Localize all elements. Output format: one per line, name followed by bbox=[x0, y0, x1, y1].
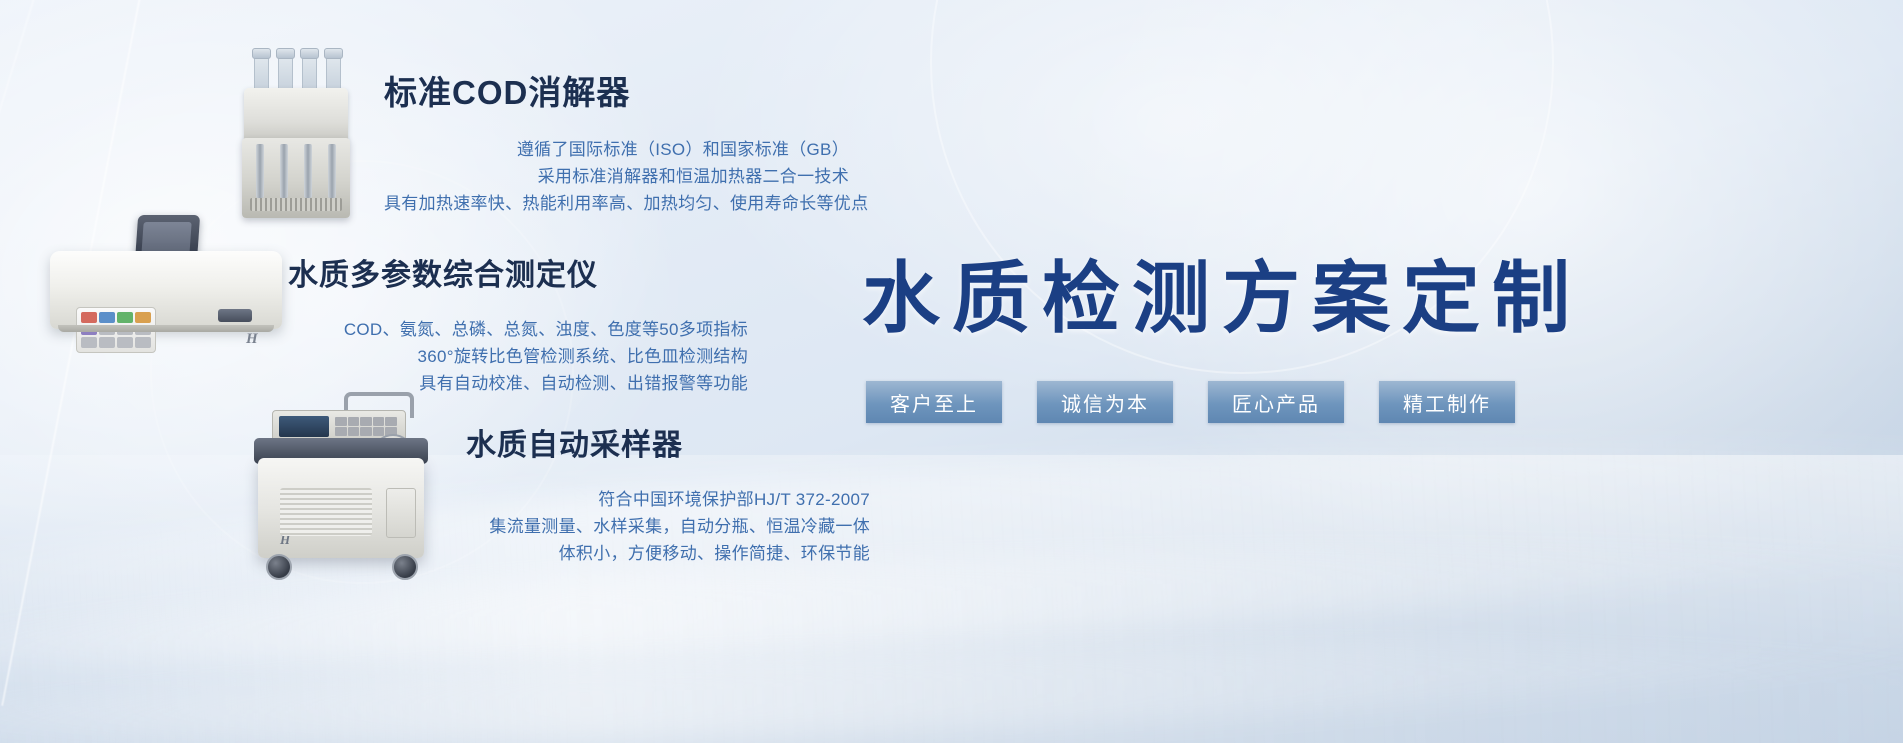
page-title: 水质检测方案定制 bbox=[862, 236, 1582, 348]
product-feature-list: 符合中国环境保护部HJ/T 372-2007 集流量测量、水样采集，自动分瓶、恒… bbox=[466, 486, 870, 567]
product-feature-line: 符合中国环境保护部HJ/T 372-2007 bbox=[466, 486, 870, 513]
product-feature-line: 采用标准消解器和恒温加热器二合一技术 bbox=[384, 163, 849, 190]
slogan-badge-fine-workmanship: 精工制作 bbox=[1379, 381, 1515, 423]
product-feature-line: COD、氨氮、总磷、总氮、浊度、色度等50多项指标 bbox=[288, 316, 748, 343]
product-title: 水质多参数综合测定仪 bbox=[288, 250, 748, 294]
product-feature-line: 集流量测量、水样采集，自动分瓶、恒温冷藏一体 bbox=[466, 513, 870, 540]
product-feature-line: 遵循了国际标准（ISO）和国家标准（GB） bbox=[384, 136, 849, 163]
product-feature-line: 360°旋转比色管检测系统、比色皿检测结构 bbox=[288, 343, 748, 370]
product-title: 标准COD消解器 bbox=[384, 66, 849, 114]
multi-parameter-analyzer-icon: H bbox=[40, 215, 300, 335]
product-feature-list: 遵循了国际标准（ISO）和国家标准（GB） 采用标准消解器和恒温加热器二合一技术… bbox=[384, 136, 849, 217]
water-quality-banner: H H bbox=[0, 0, 1903, 743]
slogan-badge-customer-first: 客户至上 bbox=[866, 381, 1002, 423]
cod-digester-icon: H bbox=[236, 50, 356, 218]
auto-sampler-icon: H bbox=[244, 392, 444, 582]
product-feature-line: 体积小，方便移动、操作简捷、环保节能 bbox=[466, 540, 870, 567]
product-feature-list: COD、氨氮、总磷、总氮、浊度、色度等50多项指标 360°旋转比色管检测系统、… bbox=[288, 316, 748, 397]
product-feature-line: 具有加热速率快、热能利用率高、加热均匀、使用寿命长等优点 bbox=[384, 190, 849, 217]
slogan-badge-group: 客户至上 诚信为本 匠心产品 精工制作 bbox=[866, 381, 1515, 423]
product-title: 水质自动采样器 bbox=[466, 420, 870, 464]
product-block-multi-parameter-analyzer: 水质多参数综合测定仪 COD、氨氮、总磷、总氮、浊度、色度等50多项指标 360… bbox=[288, 250, 748, 397]
product-block-cod-digester: 标准COD消解器 遵循了国际标准（ISO）和国家标准（GB） 采用标准消解器和恒… bbox=[384, 66, 849, 217]
slogan-badge-integrity: 诚信为本 bbox=[1037, 381, 1173, 423]
slogan-badge-craftsmanship: 匠心产品 bbox=[1208, 381, 1344, 423]
product-block-auto-sampler: 水质自动采样器 符合中国环境保护部HJ/T 372-2007 集流量测量、水样采… bbox=[466, 420, 870, 567]
product-feature-line: 具有自动校准、自动检测、出错报警等功能 bbox=[288, 370, 748, 397]
